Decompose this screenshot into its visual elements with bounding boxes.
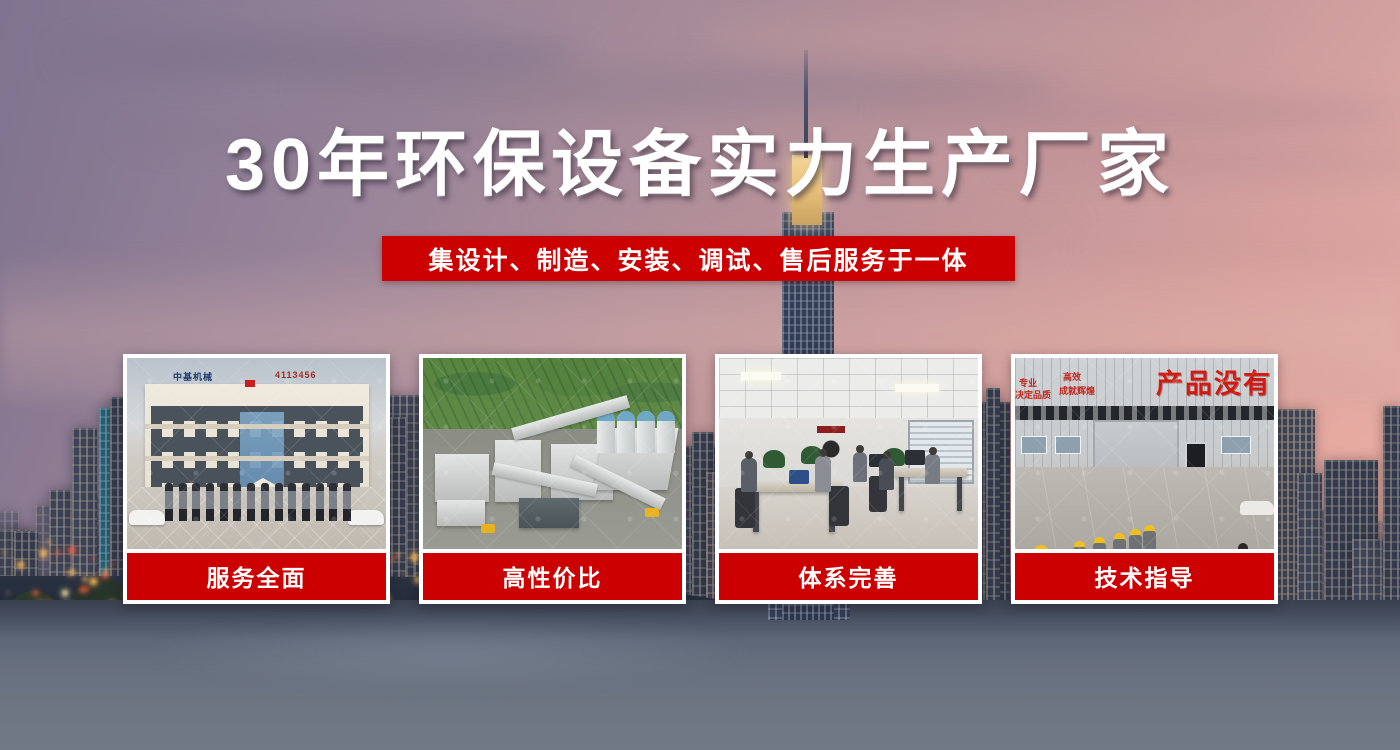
office-interior-photo: [719, 358, 978, 549]
card-caption-label: 体系完善: [799, 559, 899, 593]
page-title: 30年环保设备实力生产厂家: [0, 129, 1400, 201]
feature-card[interactable]: 产品没有 专业 高效 决定品质 成就辉煌: [1011, 354, 1278, 604]
card-caption: 技术指导: [1015, 553, 1274, 600]
card-caption-label: 高性价比: [503, 559, 603, 593]
plant-building: [437, 500, 485, 526]
city-light: [111, 563, 114, 566]
ceiling-light: [741, 372, 781, 380]
river: [0, 600, 1400, 750]
city-light: [17, 562, 23, 568]
wall-slogan-item: 高效: [1063, 370, 1081, 383]
factory-window: [1221, 436, 1251, 454]
plant-building: [435, 454, 489, 502]
storage-silo: [637, 411, 655, 453]
storage-silo: [617, 411, 635, 453]
potted-plant: [763, 450, 785, 468]
card-caption: 高性价比: [423, 553, 682, 600]
cloud-band: [700, 18, 1260, 58]
desk-leg: [957, 477, 962, 511]
city-light: [48, 540, 51, 543]
feature-card[interactable]: 中基机械 4113456 服务全面: [123, 354, 390, 604]
card-caption-label: 技术指导: [1095, 559, 1195, 593]
city-light: [68, 572, 71, 575]
chair: [829, 486, 849, 526]
plant-shed: [519, 498, 579, 528]
building-sign-text: 中基机械: [173, 370, 213, 383]
city-light: [56, 551, 59, 554]
city-light: [85, 588, 89, 592]
excavator: [645, 508, 659, 517]
person: [925, 454, 940, 484]
wall-slogan-sub: 成就辉煌: [1059, 384, 1095, 397]
city-light: [90, 578, 96, 584]
building: [1297, 473, 1322, 620]
cloud-band: [60, 30, 580, 82]
person: [815, 456, 831, 492]
city-light: [33, 591, 38, 596]
building: [1383, 406, 1400, 620]
person: [879, 458, 894, 490]
company-headquarters-photo: 中基机械 4113456: [127, 358, 386, 549]
city-light: [92, 557, 94, 559]
factory-window: [1055, 436, 1081, 454]
promo-banner: 30年环保设备实力生产厂家 集设计、制造、安装、调试、售后服务于一体 中基机械: [0, 0, 1400, 750]
staff-lineup: [165, 483, 351, 523]
excavator: [481, 524, 495, 533]
flag: [245, 380, 255, 387]
city-light: [3, 552, 5, 554]
city-light: [40, 550, 47, 557]
card-caption-label: 服务全面: [207, 559, 307, 593]
laptop: [789, 470, 809, 484]
subtitle-banner: 集设计、制造、安装、调试、售后服务于一体: [382, 236, 1015, 281]
chair: [735, 488, 755, 528]
desk-leg: [899, 477, 904, 511]
feature-card[interactable]: 体系完善: [715, 354, 982, 604]
storage-silo: [597, 411, 615, 453]
production-plant-aerial-photo: [423, 358, 682, 549]
parked-car: [348, 510, 384, 525]
card-caption: 服务全面: [127, 553, 386, 600]
city-light: [62, 590, 68, 596]
parked-car: [129, 510, 165, 525]
person: [853, 452, 867, 482]
facade-window-strip: [1015, 406, 1274, 420]
city-light: [7, 592, 9, 594]
storage-silo: [657, 411, 675, 453]
card-caption: 体系完善: [719, 553, 978, 600]
water-reflection: [140, 612, 760, 692]
building-phone-text: 4113456: [275, 370, 317, 380]
person: [741, 458, 757, 492]
monitor: [905, 450, 925, 465]
wall-slogan-sub: 决定品质: [1015, 388, 1051, 401]
subtitle-text: 集设计、制造、安装、调试、售后服务于一体: [428, 241, 968, 277]
workshop-training-photo: 产品没有 专业 高效 决定品质 成就辉煌: [1015, 358, 1274, 549]
feature-card[interactable]: 高性价比: [419, 354, 686, 604]
parked-car: [1240, 501, 1274, 515]
ceiling-light: [895, 384, 939, 392]
ceiling: [719, 358, 978, 420]
feature-card-row: 中基机械 4113456 服务全面: [123, 354, 1278, 604]
cloud-band: [300, 66, 1060, 112]
city-light: [83, 577, 87, 581]
factory-window: [1021, 436, 1047, 454]
wall-slogan-main: 产品没有: [1156, 362, 1272, 401]
city-light: [69, 547, 75, 553]
